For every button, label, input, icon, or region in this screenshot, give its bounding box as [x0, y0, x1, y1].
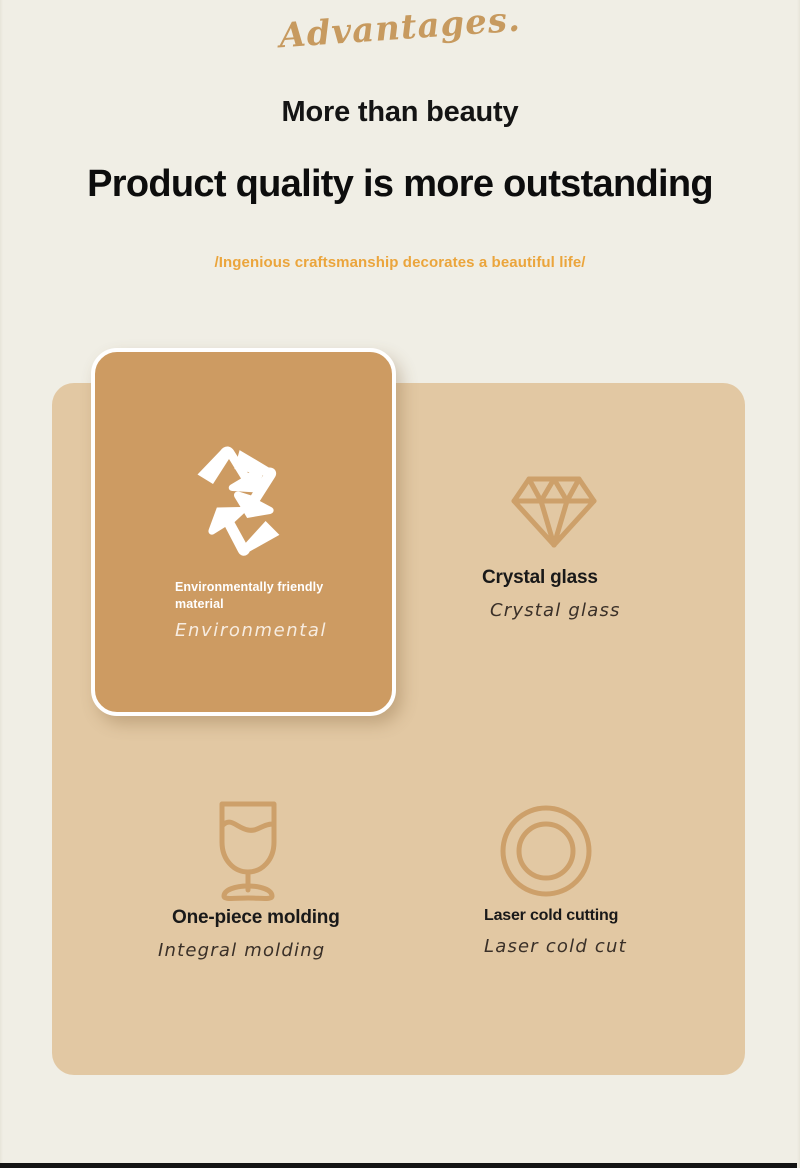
- feature-crystal-glass[interactable]: Crystal glass Crystal glass: [482, 455, 782, 621]
- feature-one-piece-molding[interactable]: One-piece molding Integral molding: [172, 795, 472, 961]
- wine-glass-icon: [172, 795, 472, 907]
- feature-title: Laser cold cutting: [484, 907, 784, 925]
- promo-page: Advantages. More than beauty Product qua…: [0, 0, 800, 1168]
- script-title: Advantages.: [0, 0, 800, 76]
- active-card-title: Environmentally friendly material: [175, 579, 360, 613]
- heading-primary: More than beauty: [0, 96, 800, 129]
- diamond-icon: [482, 455, 782, 567]
- feature-title: One-piece molding: [172, 907, 472, 929]
- heading-secondary: Product quality is more outstanding: [0, 163, 800, 206]
- bottom-edge-strip: [0, 1163, 800, 1168]
- feature-subtitle: Integral molding: [158, 940, 472, 961]
- feature-subtitle: Crystal glass: [490, 600, 782, 621]
- tagline: /Ingenious craftsmanship decorates a bea…: [0, 254, 800, 271]
- feature-subtitle: Laser cold cut: [484, 936, 784, 957]
- feature-laser-cold-cutting[interactable]: Laser cold cutting Laser cold cut: [484, 795, 784, 957]
- active-card-subtitle: Environmental: [175, 620, 327, 641]
- feature-title: Crystal glass: [482, 567, 782, 589]
- concentric-rings-icon: [484, 795, 784, 907]
- recycle-icon: [173, 444, 297, 564]
- feature-card-environmental-active[interactable]: Environmentally friendly material Enviro…: [91, 348, 396, 716]
